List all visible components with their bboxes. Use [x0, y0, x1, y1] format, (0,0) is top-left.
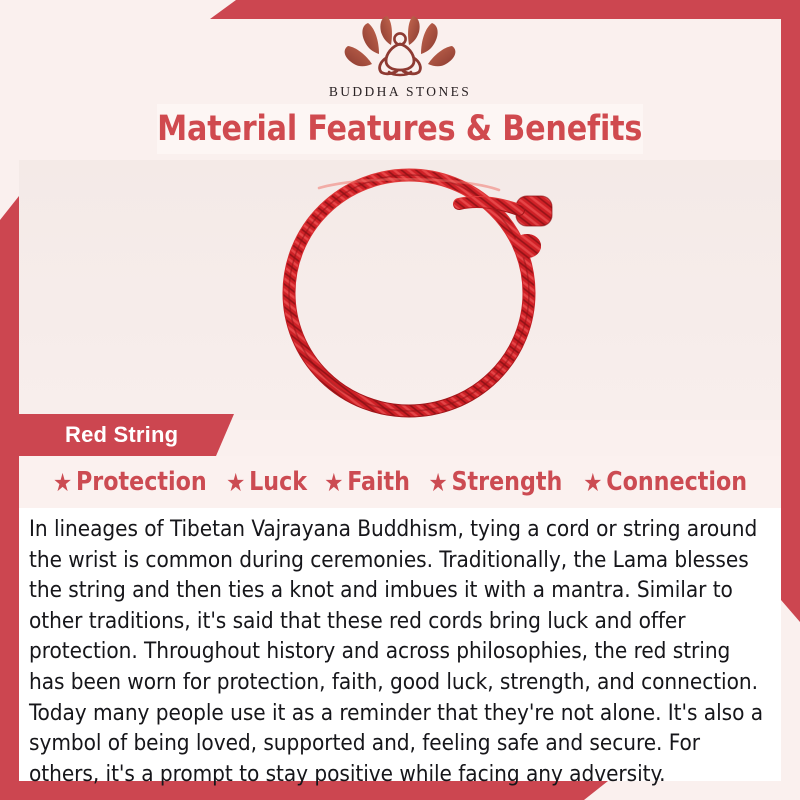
- benefit-item-connection: ★ Connection: [583, 467, 747, 497]
- lotus-meditation-icon: [334, 14, 466, 82]
- infographic-canvas: BUDDHA STONES Material Features & Benefi…: [0, 0, 800, 800]
- description-text: In lineages of Tibetan Vajrayana Buddhis…: [29, 514, 767, 789]
- benefit-label: Protection: [76, 467, 207, 497]
- page-title: Material Features & Benefits: [157, 109, 642, 149]
- benefit-item-faith: ★ Faith: [324, 467, 410, 497]
- benefit-label: Faith: [347, 467, 410, 497]
- star-icon: ★: [324, 470, 343, 495]
- frame-bar-left: [0, 196, 19, 800]
- benefit-label: Luck: [249, 467, 307, 497]
- benefit-label: Strength: [451, 467, 562, 497]
- benefit-item-strength: ★ Strength: [428, 467, 562, 497]
- description-panel: In lineages of Tibetan Vajrayana Buddhis…: [19, 508, 781, 781]
- benefit-label: Connection: [606, 467, 747, 497]
- headline-band: Material Features & Benefits: [157, 104, 643, 154]
- benefits-list: ★ Protection ★ Luck ★ Faith ★ Strength ★…: [19, 456, 781, 508]
- benefit-item-luck: ★ Luck: [226, 467, 307, 497]
- material-label-banner: Red String: [19, 414, 234, 456]
- benefit-item-protection: ★ Protection: [53, 467, 207, 497]
- star-icon: ★: [583, 470, 602, 495]
- star-icon: ★: [226, 470, 245, 495]
- material-label: Red String: [65, 422, 178, 448]
- star-icon: ★: [428, 470, 447, 495]
- star-icon: ★: [53, 470, 72, 495]
- brand-logo: BUDDHA STONES: [0, 14, 800, 100]
- brand-name: BUDDHA STONES: [0, 84, 800, 100]
- red-braided-cord-bracelet: [19, 160, 781, 420]
- hero-section: [19, 160, 781, 420]
